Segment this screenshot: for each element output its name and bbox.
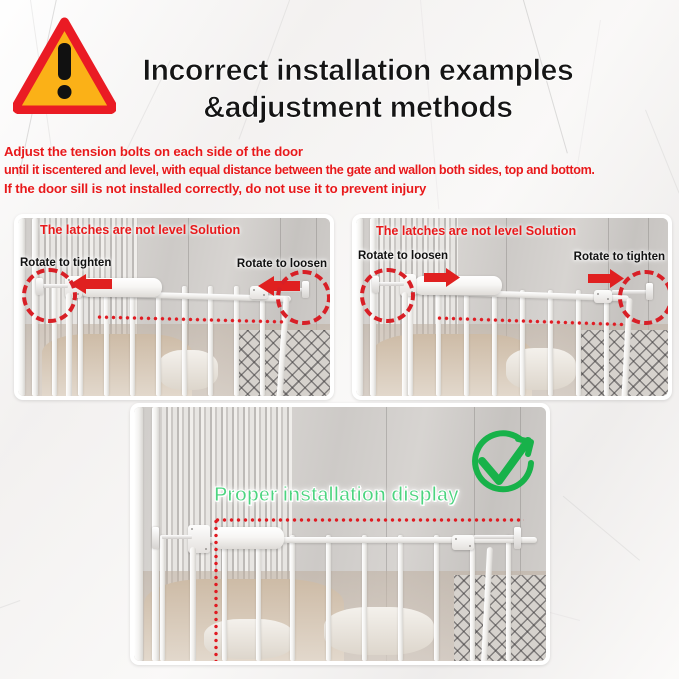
- arrow-right-icon: [588, 269, 624, 288]
- marble-vein: [0, 600, 20, 632]
- gate-leg: [190, 547, 196, 661]
- panel-latches-not-level-right: The latches are not level Solution Rotat…: [352, 214, 672, 400]
- marble-vein: [563, 496, 640, 561]
- gate-left-post: [134, 407, 143, 661]
- level-guide-line-vertical: [214, 518, 218, 661]
- highlight-circle-right: [618, 270, 668, 325]
- highlight-circle-right: [276, 270, 330, 325]
- highlight-circle-left: [360, 268, 415, 323]
- rotate-label-left: Rotate to loosen: [358, 250, 448, 262]
- level-guide-line-horizontal: [214, 518, 524, 522]
- panel-proper-installation: Proper installation display: [130, 403, 550, 665]
- instructions-block: Adjust the tension bolts on each side of…: [4, 143, 679, 198]
- proper-installation-label: Proper installation display: [214, 484, 459, 507]
- instruction-line-2: until it iscentered and level, with equa…: [4, 161, 679, 179]
- bolt-wall-pad-right: [514, 527, 521, 549]
- gate-latch-box: [452, 535, 474, 550]
- rotate-label-left: Rotate to tighten: [20, 257, 111, 269]
- green-circle-check-icon: [468, 429, 538, 499]
- gate-handle: [212, 527, 284, 549]
- instruction-line-3: If the door sill is not installed correc…: [4, 180, 679, 198]
- highlight-circle-left: [22, 268, 77, 323]
- page-background: Incorrect installation examples &adjustm…: [0, 0, 679, 679]
- tension-bolt-left: [162, 535, 192, 539]
- rotate-label-right: Rotate to tighten: [574, 251, 665, 263]
- instruction-line-1: Adjust the tension bolts on each side of…: [4, 143, 679, 161]
- gate-latch-box: [594, 290, 612, 303]
- panel-latches-not-level-left: The latches are not level Solution Rotat…: [14, 214, 334, 400]
- arrow-right-icon: [424, 268, 460, 287]
- bolt-wall-pad-left: [152, 527, 159, 549]
- panel-title: The latches are not level Solution: [40, 223, 240, 237]
- page-title-line-2: &adjustment methods: [108, 89, 608, 126]
- panel-photo: The latches are not level Solution Rotat…: [18, 218, 330, 396]
- tension-bolt-right: [474, 535, 516, 539]
- page-title: Incorrect installation examples &adjustm…: [108, 52, 608, 126]
- panel-photo: The latches are not level Solution Rotat…: [356, 218, 668, 396]
- warning-triangle-icon: [13, 17, 116, 114]
- rotate-label-right: Rotate to loosen: [237, 258, 327, 270]
- panel-title: The latches are not level Solution: [376, 224, 576, 238]
- page-title-line-1: Incorrect installation examples: [108, 52, 608, 89]
- panel-photo: Proper installation display: [134, 407, 546, 661]
